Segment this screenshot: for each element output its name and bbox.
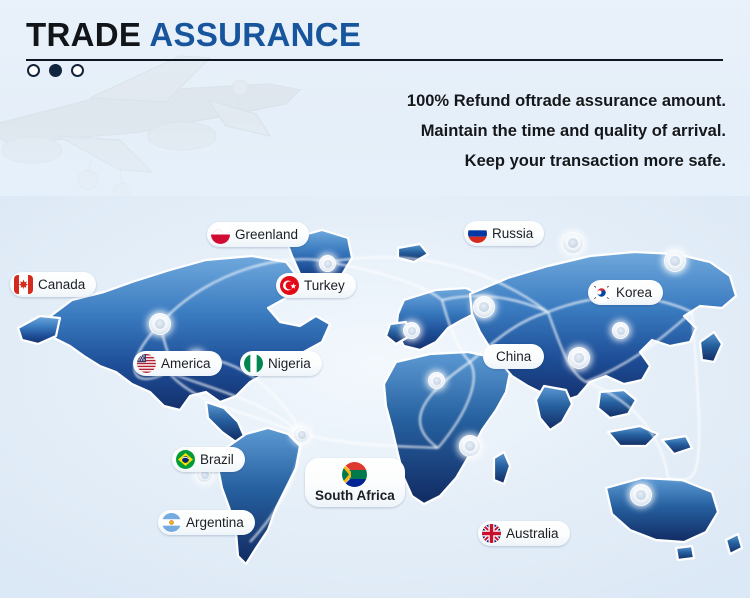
map-label-brazil[interactable]: Brazil [172, 447, 245, 472]
map-label-canada[interactable]: Canada [10, 272, 96, 297]
canada-flag-icon [14, 275, 33, 294]
map-label-text: Brazil [200, 453, 234, 467]
map-label-text: Canada [38, 278, 85, 292]
title-part-trade: TRADE [26, 16, 141, 53]
map-label-korea[interactable]: Korea [588, 280, 663, 305]
carousel-pagination[interactable] [27, 64, 84, 77]
map-label-text: China [496, 350, 531, 364]
australia-flag-icon [482, 524, 501, 543]
map-label-text: Nigeria [268, 357, 311, 371]
map-label-text: Russia [492, 227, 533, 241]
trade-assurance-banner: TRADE ASSURANCE 100% Refund oftrade assu… [0, 0, 750, 598]
map-label-australia[interactable]: Australia [478, 521, 570, 546]
map-label-text: Argentina [186, 516, 244, 530]
map-label-argentina[interactable]: Argentina [158, 510, 255, 535]
map-label-nigeria[interactable]: Nigeria [240, 351, 322, 376]
map-label-russia[interactable]: Russia [464, 221, 544, 246]
world-map [0, 196, 750, 598]
title-part-assurance: ASSURANCE [149, 16, 361, 53]
nigeria-flag-icon [244, 354, 263, 373]
turkey-flag-icon [280, 276, 299, 295]
copy-line-1: 100% Refund oftrade assurance amount. [306, 86, 726, 116]
carousel-dot-1[interactable] [27, 64, 40, 77]
map-label-text: America [161, 357, 211, 371]
america-flag-icon [137, 354, 156, 373]
map-label-text: South Africa [315, 489, 395, 503]
korea-flag-icon [592, 283, 611, 302]
map-label-south-africa[interactable]: South Africa [305, 458, 405, 507]
map-label-text: Turkey [304, 279, 345, 293]
title-divider [26, 59, 723, 61]
map-label-china[interactable]: China [483, 344, 544, 369]
carousel-dot-3[interactable] [71, 64, 84, 77]
copy-line-3: Keep your transaction more safe. [306, 146, 726, 176]
map-label-america[interactable]: America [133, 351, 222, 376]
russia-flag-icon [468, 224, 487, 243]
map-label-text: Greenland [235, 228, 298, 242]
argentina-flag-icon [162, 513, 181, 532]
greenland-flag-icon [211, 225, 230, 244]
map-label-text: Korea [616, 286, 652, 300]
map-label-text: Australia [506, 527, 559, 541]
carousel-dot-2[interactable] [49, 64, 62, 77]
headline-copy: 100% Refund oftrade assurance amount. Ma… [306, 86, 726, 176]
brazil-flag-icon [176, 450, 195, 469]
copy-line-2: Maintain the time and quality of arrival… [306, 116, 726, 146]
south-africa-flag-icon [342, 462, 367, 487]
page-title: TRADE ASSURANCE [26, 15, 361, 55]
map-label-greenland[interactable]: Greenland [207, 222, 309, 247]
map-label-turkey[interactable]: Turkey [276, 273, 356, 298]
